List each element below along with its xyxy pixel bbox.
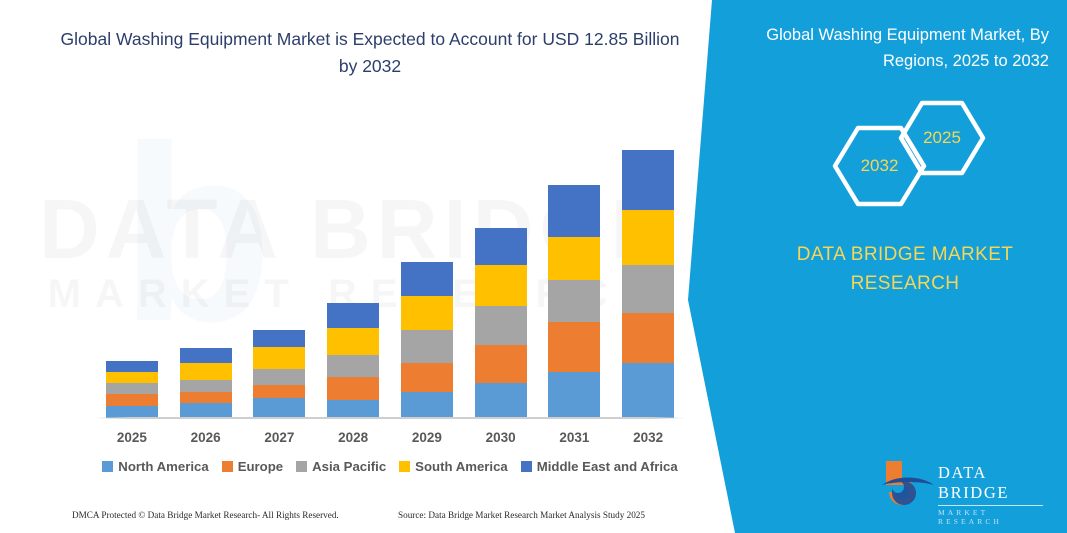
x-tick-2032: 2032 bbox=[615, 430, 681, 445]
segment-europe bbox=[327, 377, 379, 400]
legend-item-north-america[interactable]: North America bbox=[102, 459, 208, 474]
segment-asia-pacific bbox=[401, 330, 453, 363]
legend-swatch-icon bbox=[296, 461, 307, 472]
x-tick-2027: 2027 bbox=[246, 430, 312, 445]
segment-middle-east-and-africa bbox=[253, 330, 305, 347]
x-tick-2029: 2029 bbox=[394, 430, 460, 445]
brand-name: DATA BRIDGE MARKET RESEARCH bbox=[760, 240, 1050, 299]
segment-south-america bbox=[106, 372, 158, 383]
bar-column-2027[interactable] bbox=[246, 140, 312, 418]
segment-north-america bbox=[401, 392, 453, 418]
chart-legend: North America Europe Asia Pacific South … bbox=[95, 455, 685, 477]
segment-europe bbox=[475, 345, 527, 383]
legend-swatch-icon bbox=[222, 461, 233, 472]
segment-north-america bbox=[548, 372, 600, 418]
hexagon-badge-2032[interactable]: 2032 bbox=[832, 125, 927, 207]
legend-item-middle-east-and-africa[interactable]: Middle East and Africa bbox=[521, 459, 678, 474]
segment-europe bbox=[622, 313, 674, 363]
legend-label: Middle East and Africa bbox=[537, 459, 678, 474]
segment-asia-pacific bbox=[253, 369, 305, 385]
segment-asia-pacific bbox=[548, 280, 600, 322]
segment-middle-east-and-africa bbox=[622, 150, 674, 210]
segment-north-america bbox=[327, 400, 379, 418]
segment-asia-pacific bbox=[180, 380, 232, 392]
segment-middle-east-and-africa bbox=[401, 262, 453, 296]
x-axis-tick-labels: 2025 2026 2027 2028 2029 2030 2031 2032 bbox=[95, 426, 685, 448]
legend-label: North America bbox=[118, 459, 208, 474]
x-tick-2028: 2028 bbox=[320, 430, 386, 445]
footer: DMCA Protected © Data Bridge Market Rese… bbox=[0, 505, 712, 529]
segment-south-america bbox=[401, 296, 453, 330]
segment-asia-pacific bbox=[327, 355, 379, 377]
legend-swatch-icon bbox=[102, 461, 113, 472]
bar-column-2032[interactable] bbox=[615, 140, 681, 418]
x-tick-2031: 2031 bbox=[541, 430, 607, 445]
segment-south-america bbox=[180, 363, 232, 380]
segment-south-america bbox=[548, 237, 600, 280]
segment-europe bbox=[253, 385, 305, 398]
hexagon-badges: 2025 2032 bbox=[820, 100, 1010, 210]
logo-text-block: DATA BRIDGE MARKET RESEARCH bbox=[938, 463, 1055, 526]
segment-middle-east-and-africa bbox=[327, 303, 379, 328]
bar-column-2031[interactable] bbox=[541, 140, 607, 418]
x-axis-line bbox=[95, 417, 685, 419]
segment-europe bbox=[106, 394, 158, 406]
segment-asia-pacific bbox=[475, 306, 527, 345]
stacked-bar-chart bbox=[95, 140, 685, 418]
segment-north-america bbox=[475, 383, 527, 418]
segment-asia-pacific bbox=[622, 265, 674, 313]
legend-swatch-icon bbox=[521, 461, 532, 472]
x-tick-2026: 2026 bbox=[173, 430, 239, 445]
hexagon-label: 2025 bbox=[923, 128, 961, 148]
bar-column-2030[interactable] bbox=[468, 140, 534, 418]
bar-column-2026[interactable] bbox=[173, 140, 239, 418]
x-tick-2025: 2025 bbox=[99, 430, 165, 445]
legend-swatch-icon bbox=[399, 461, 410, 472]
segment-europe bbox=[548, 322, 600, 372]
bar-column-2025[interactable] bbox=[99, 140, 165, 418]
logo-title: DATA BRIDGE bbox=[938, 463, 1055, 503]
panel-title: Global Washing Equipment Market, By Regi… bbox=[744, 22, 1049, 75]
source-note: Source: Data Bridge Market Research Mark… bbox=[398, 510, 645, 520]
segment-middle-east-and-africa bbox=[548, 185, 600, 237]
logo-subtitle: MARKET RESEARCH bbox=[938, 508, 1055, 526]
segment-europe bbox=[401, 363, 453, 392]
segment-middle-east-and-africa bbox=[106, 361, 158, 372]
chart-panel: b DATA BRIDGE MARKET RESEARCH Global Was… bbox=[0, 0, 715, 533]
segment-europe bbox=[180, 392, 232, 403]
segment-south-america bbox=[475, 265, 527, 306]
segment-middle-east-and-africa bbox=[180, 348, 232, 363]
dmca-notice: DMCA Protected © Data Bridge Market Rese… bbox=[72, 510, 339, 520]
logo-divider bbox=[938, 505, 1043, 506]
bar-column-2028[interactable] bbox=[320, 140, 386, 418]
data-bridge-mark-icon bbox=[880, 455, 938, 505]
legend-item-asia-pacific[interactable]: Asia Pacific bbox=[296, 459, 386, 474]
x-tick-2030: 2030 bbox=[468, 430, 534, 445]
legend-label: South America bbox=[415, 459, 508, 474]
legend-label: Europe bbox=[238, 459, 283, 474]
segment-south-america bbox=[622, 210, 674, 265]
hexagon-label: 2032 bbox=[861, 156, 899, 176]
segment-north-america bbox=[622, 363, 674, 418]
infographic-canvas: b DATA BRIDGE MARKET RESEARCH Global Was… bbox=[0, 0, 1067, 533]
segment-south-america bbox=[327, 328, 379, 355]
segment-north-america bbox=[253, 398, 305, 418]
chart-title: Global Washing Equipment Market is Expec… bbox=[60, 26, 680, 80]
segment-asia-pacific bbox=[106, 383, 158, 394]
segment-north-america bbox=[180, 403, 232, 418]
segment-south-america bbox=[253, 347, 305, 369]
legend-label: Asia Pacific bbox=[312, 459, 386, 474]
legend-item-europe[interactable]: Europe bbox=[222, 459, 283, 474]
bar-column-2029[interactable] bbox=[394, 140, 460, 418]
data-bridge-logo[interactable]: DATA BRIDGE MARKET RESEARCH bbox=[880, 455, 1055, 511]
legend-item-south-america[interactable]: South America bbox=[399, 459, 508, 474]
segment-middle-east-and-africa bbox=[475, 228, 527, 265]
